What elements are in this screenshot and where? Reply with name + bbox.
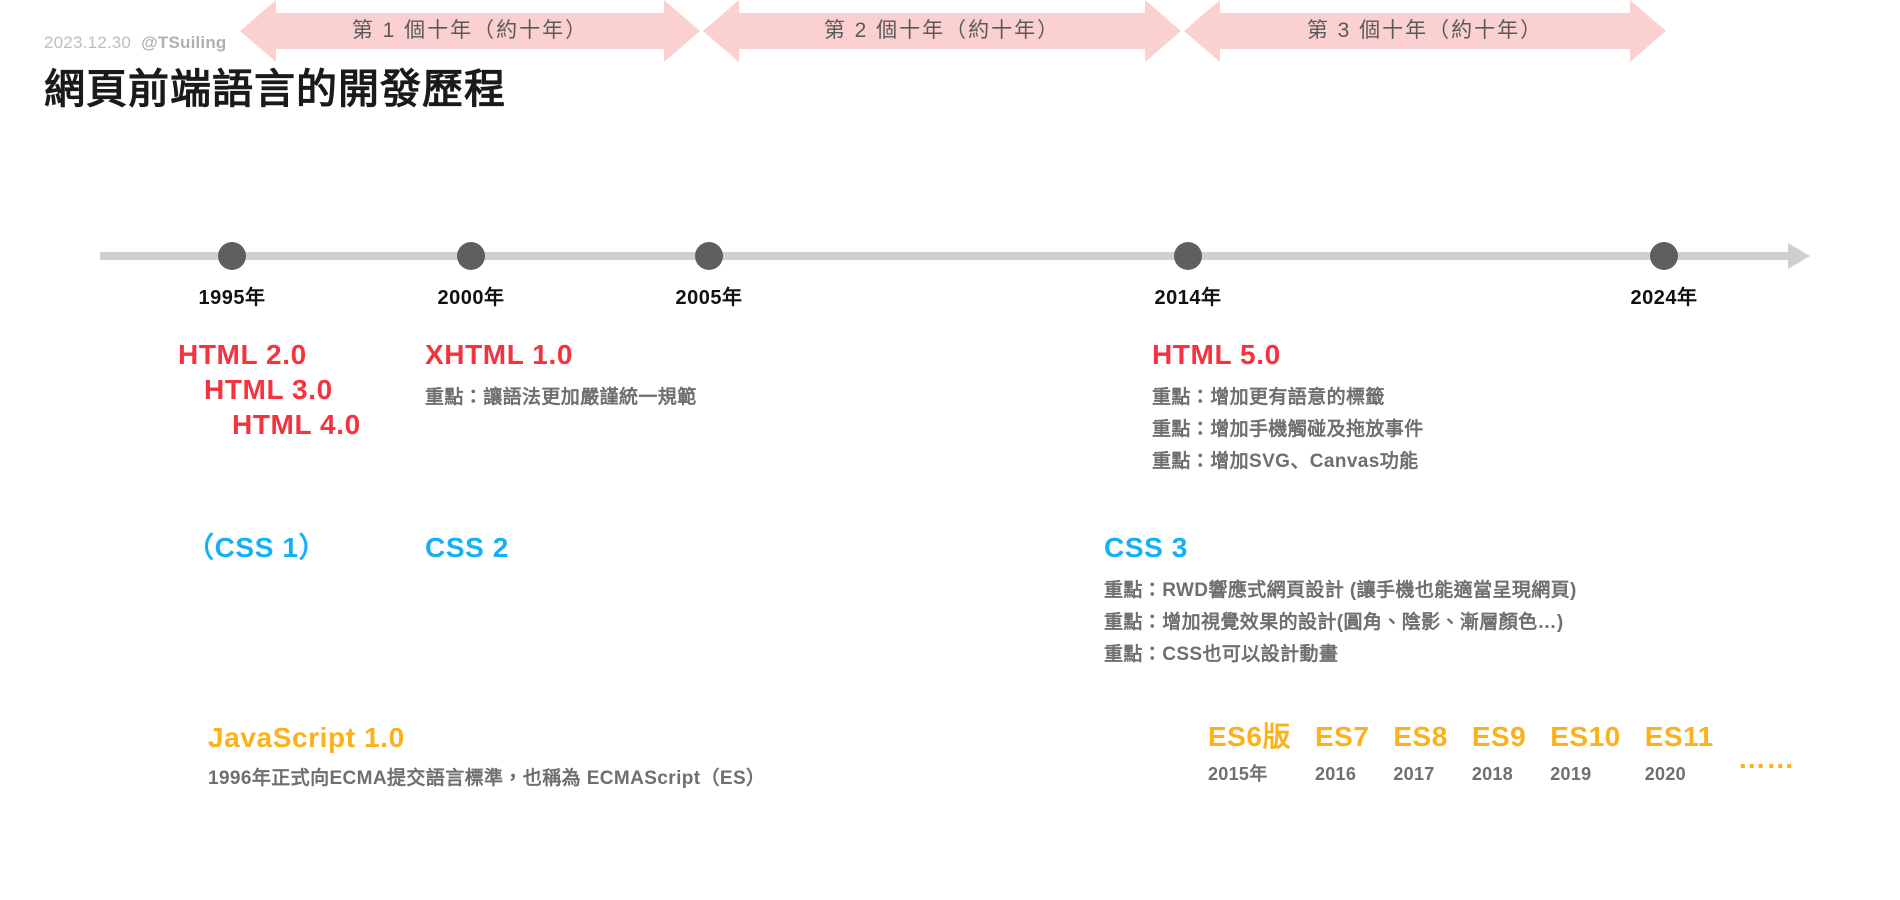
ecmascript-name: ES9 bbox=[1472, 721, 1526, 752]
css3-note-3: 重點：CSS也可以設計動畫 bbox=[1104, 639, 1577, 671]
ecmascript-name: ES6版 bbox=[1208, 721, 1291, 752]
html5-title: HTML 5.0 bbox=[1152, 337, 1424, 372]
css3-note-2: 重點：增加視覺效果的設計(圓角、陰影、漸層顏色…) bbox=[1104, 607, 1577, 639]
ecmascript-name: …… bbox=[1738, 743, 1795, 774]
double-arrow-icon bbox=[240, 0, 700, 62]
timeline-dot-2024 bbox=[1650, 242, 1678, 270]
timeline-label-2000: 2000年 bbox=[438, 281, 505, 310]
timeline-axis bbox=[100, 252, 1800, 260]
timeline-axis-arrowhead-icon bbox=[1788, 243, 1810, 269]
entry-html5: HTML 5.0 重點：增加更有語意的標籤 重點：增加手機觸碰及拖放事件 重點：… bbox=[1152, 337, 1424, 478]
xhtml-note-1: 重點：讓語法更加嚴謹統一規範 bbox=[425, 382, 697, 414]
timeline-label-2024: 2024年 bbox=[1631, 281, 1698, 310]
entry-css2: CSS 2 bbox=[425, 530, 509, 565]
entry-css3: CSS 3 重點：RWD響應式網頁設計 (讓手機也能適當呈現網頁) 重點：增加視… bbox=[1104, 530, 1577, 671]
decade-arrow-1: 第 1 個十年（約十年） bbox=[240, 0, 700, 62]
ecmascript-release-es11: ES11 2020 bbox=[1645, 720, 1714, 785]
ecmascript-year: 2020 bbox=[1645, 764, 1714, 786]
ecmascript-name: ES10 bbox=[1550, 721, 1621, 752]
html-version-2: HTML 3.0 bbox=[178, 372, 361, 407]
ecmascript-release-row: ES6版 2015年 ES7 2016 ES8 2017 ES9 2018 ES… bbox=[1208, 720, 1795, 785]
ecmascript-year: 2017 bbox=[1393, 764, 1447, 786]
byline: 2023.12.30@TSuiling bbox=[44, 33, 227, 53]
ecmascript-year: 2016 bbox=[1315, 764, 1369, 786]
page-title: 網頁前端語言的開發歷程 bbox=[44, 55, 506, 115]
html-version-1: HTML 2.0 bbox=[178, 337, 361, 372]
html-version-3: HTML 4.0 bbox=[178, 407, 361, 442]
entry-css1: （CSS 1） bbox=[186, 530, 327, 565]
ecmascript-release-es7: ES7 2016 bbox=[1315, 720, 1369, 785]
timeline-dot-2014 bbox=[1174, 242, 1202, 270]
ecmascript-name: ES11 bbox=[1645, 721, 1714, 752]
html5-note-1: 重點：增加更有語意的標籤 bbox=[1152, 382, 1424, 414]
decade-arrow-3: 第 3 個十年（約十年） bbox=[1184, 0, 1666, 62]
author-handle: @TSuiling bbox=[141, 33, 226, 52]
javascript-note-1: 1996年正式向ECMA提交語言標準，也稱為 ECMAScript（ES） bbox=[208, 763, 765, 795]
ecmascript-year: 2018 bbox=[1472, 764, 1526, 786]
timeline-label-2014: 2014年 bbox=[1155, 281, 1222, 310]
decade-arrow-2: 第 2 個十年（約十年） bbox=[703, 0, 1181, 62]
css1-title: （CSS 1） bbox=[186, 530, 327, 565]
entry-ecmascript-releases: ES6版 2015年 ES7 2016 ES8 2017 ES9 2018 ES… bbox=[1208, 720, 1795, 785]
timeline-dot-1995 bbox=[218, 242, 246, 270]
css3-note-1: 重點：RWD響應式網頁設計 (讓手機也能適當呈現網頁) bbox=[1104, 575, 1577, 607]
html5-note-2: 重點：增加手機觸碰及拖放事件 bbox=[1152, 414, 1424, 446]
ecmascript-year: 2015年 bbox=[1208, 764, 1291, 786]
timeline-dot-2005 bbox=[695, 242, 723, 270]
css3-title: CSS 3 bbox=[1104, 530, 1577, 565]
ecmascript-name: ES7 bbox=[1315, 721, 1369, 752]
xhtml-title: XHTML 1.0 bbox=[425, 337, 697, 372]
ecmascript-release-es8: ES8 2017 bbox=[1393, 720, 1447, 785]
ecmascript-year: 2019 bbox=[1550, 764, 1621, 786]
ecmascript-release-more: …… bbox=[1738, 742, 1795, 786]
entry-javascript: JavaScript 1.0 1996年正式向ECMA提交語言標準，也稱為 EC… bbox=[208, 720, 765, 795]
ecmascript-name: ES8 bbox=[1393, 721, 1447, 752]
ecmascript-release-es9: ES9 2018 bbox=[1472, 720, 1526, 785]
entry-xhtml: XHTML 1.0 重點：讓語法更加嚴謹統一規範 bbox=[425, 337, 697, 414]
html5-note-3: 重點：增加SVG、Canvas功能 bbox=[1152, 446, 1424, 478]
css2-title: CSS 2 bbox=[425, 530, 509, 565]
publish-date: 2023.12.30 bbox=[44, 33, 131, 52]
infographic-canvas: 2023.12.30@TSuiling 網頁前端語言的開發歷程 第 1 個十年（… bbox=[0, 0, 1900, 900]
timeline-label-2005: 2005年 bbox=[676, 281, 743, 310]
double-arrow-icon bbox=[703, 0, 1181, 62]
ecmascript-release-es6: ES6版 2015年 bbox=[1208, 720, 1291, 785]
double-arrow-icon bbox=[1184, 0, 1666, 62]
ecmascript-release-es10: ES10 2019 bbox=[1550, 720, 1621, 785]
entry-html-early: HTML 2.0 HTML 3.0 HTML 4.0 bbox=[178, 337, 361, 442]
timeline-label-1995: 1995年 bbox=[199, 281, 266, 310]
timeline-dot-2000 bbox=[457, 242, 485, 270]
javascript-title: JavaScript 1.0 bbox=[208, 720, 765, 755]
